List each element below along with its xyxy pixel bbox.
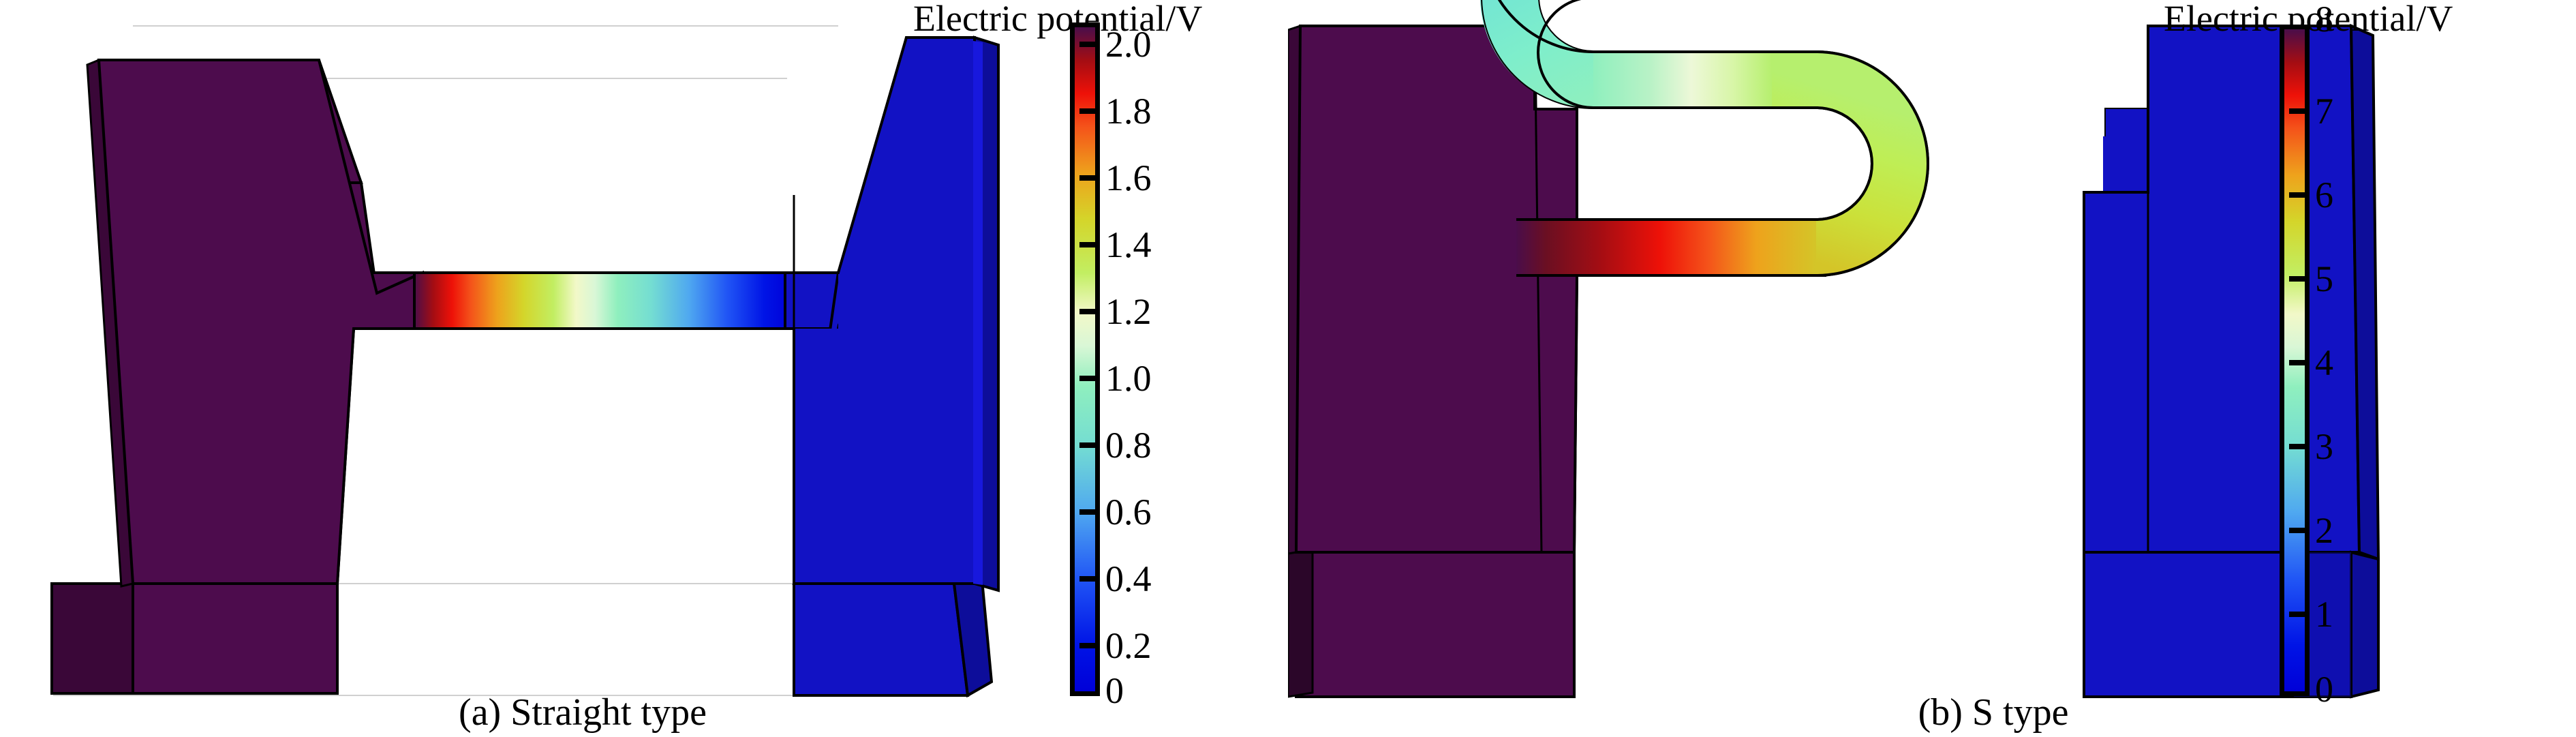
s-type-model-view [1288, 0, 2576, 737]
colorbar-a-tick [1079, 509, 1100, 515]
colorbar-a-tick [1079, 175, 1100, 181]
colorbar-b-tick-label: 0 [2315, 671, 2333, 708]
colorbar-a-title: Electric potential/V [913, 0, 1202, 40]
colorbar-b-tick [2289, 192, 2310, 198]
right-electrode-pad [785, 37, 998, 695]
colorbar-b-tick-label: 4 [2315, 344, 2333, 381]
colorbar-b-tick-label: 3 [2315, 428, 2333, 465]
colorbar-b-tick [2289, 276, 2310, 282]
colorbar-b-tick-label: 6 [2315, 177, 2333, 213]
colorbar-b-tick [2289, 528, 2310, 533]
colorbar-a-tick-label: 0.2 [1105, 627, 1152, 664]
colorbar-b-tick [2289, 108, 2310, 114]
colorbar-a-tick-label: 0.8 [1105, 427, 1152, 464]
colorbar-b-tick-label: 5 [2315, 260, 2333, 297]
colorbar-a-tick [1079, 442, 1100, 448]
colorbar-a-gradient [1070, 22, 1100, 696]
colorbar-a-tick-label: 0.6 [1105, 494, 1152, 530]
colorbar-b-tick-label: 1 [2315, 596, 2333, 633]
colorbar-b-tick-label: 8 [2315, 1, 2333, 37]
colorbar-a-tick [1079, 242, 1100, 247]
right-electrode-pad [2084, 26, 2378, 697]
colorbar-a-tick-label: 1.8 [1105, 93, 1152, 130]
panel-a-caption: (a) Straight type [0, 691, 1227, 734]
figure-root: (a) Straight type [0, 0, 2576, 737]
colorbar-a-tick [1079, 309, 1100, 314]
colorbar-a-tick-label: 1.0 [1105, 360, 1152, 397]
left-electrode-pad [1288, 26, 1577, 697]
colorbar-b-tick [2289, 444, 2310, 449]
colorbar-a-tick-label: 0.4 [1105, 560, 1152, 597]
panel-s-type: (b) S type [1288, 0, 2576, 737]
colorbar-a-tick [1079, 42, 1100, 47]
left-electrode-pad [52, 60, 423, 693]
colorbar-a[interactable]: 2.0 1.8 1.6 1.4 1.2 1.0 0.8 0.6 0.4 0.2 … [1070, 22, 1100, 696]
colorbar-a-tick [1079, 576, 1100, 582]
colorbar-b[interactable]: 8 7 6 5 4 3 2 1 0 [2280, 25, 2310, 696]
colorbar-b-tick-label: 7 [2315, 93, 2333, 130]
panel-b-caption: (b) S type [1349, 691, 2576, 734]
colorbar-a-tick-label: 2.0 [1105, 26, 1152, 63]
colorbar-b-tick-label: 2 [2315, 512, 2333, 549]
colorbar-a-tick-label: 0 [1105, 672, 1124, 709]
colorbar-b-tick [2289, 360, 2310, 365]
colorbar-a-tick [1079, 643, 1100, 648]
colorbar-a-tick [1079, 376, 1100, 381]
straight-beam [414, 273, 791, 329]
colorbar-a-tick [1079, 108, 1100, 114]
colorbar-a-tick-label: 1.4 [1105, 226, 1152, 263]
colorbar-a-tick-label: 1.2 [1105, 293, 1152, 330]
colorbar-b-tick [2289, 612, 2310, 617]
colorbar-a-tick-label: 1.6 [1105, 160, 1152, 196]
